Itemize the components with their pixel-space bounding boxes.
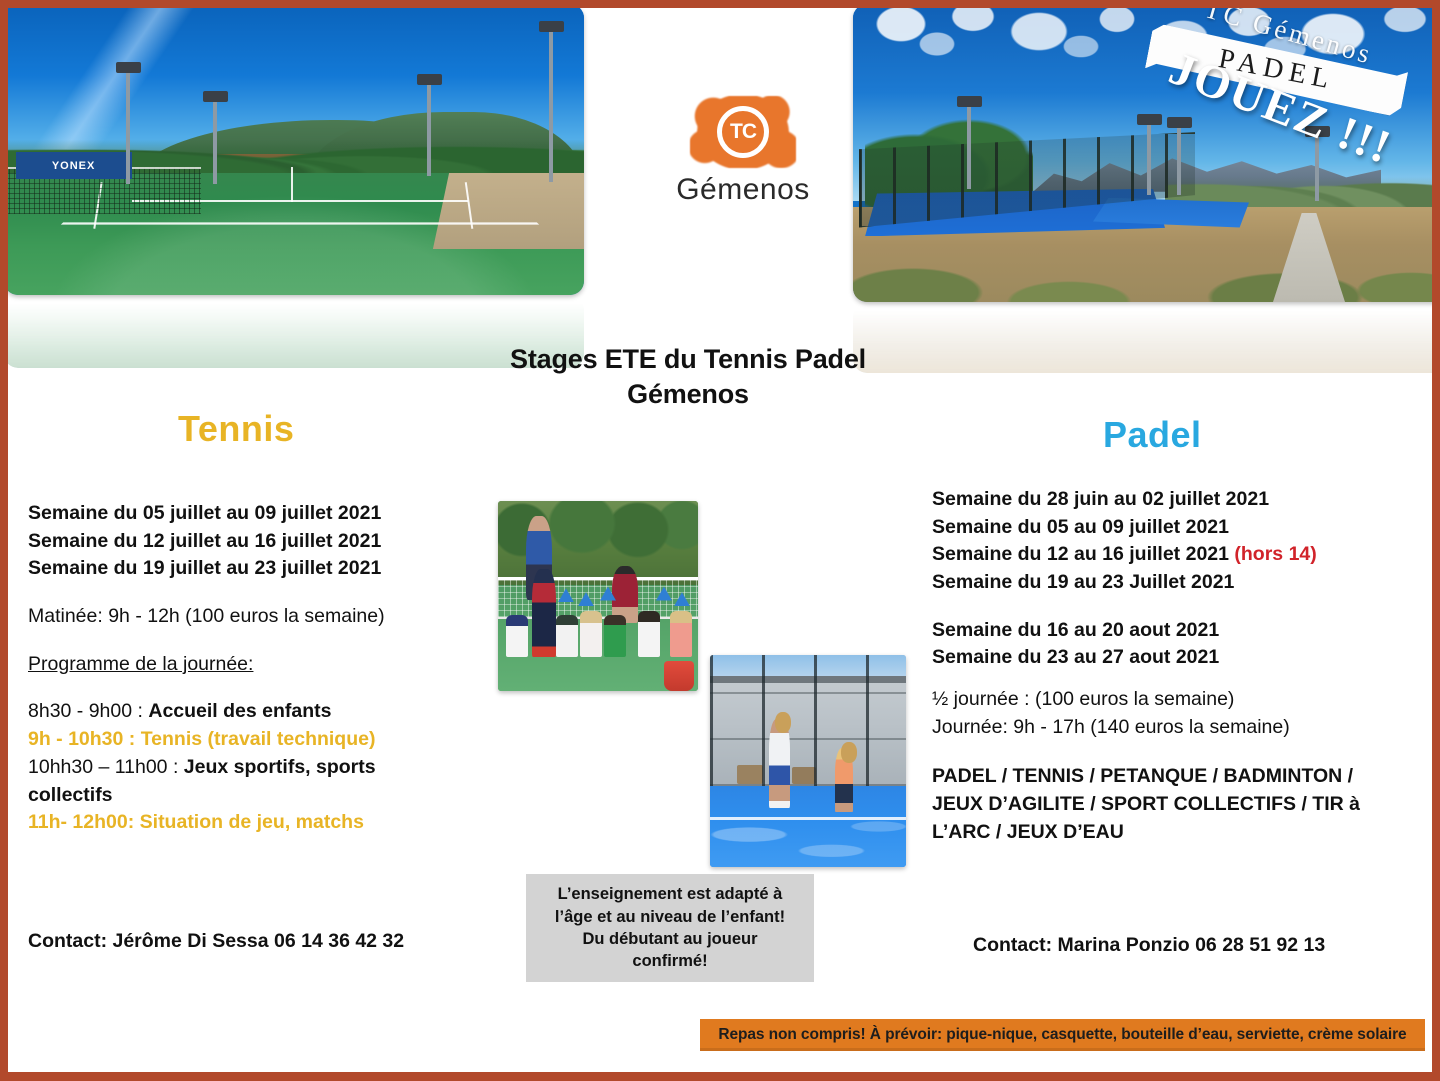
poster-root: YONEX TC Géme <box>0 0 1440 1081</box>
ball-bucket <box>664 661 694 691</box>
kids-lesson-photo <box>498 501 698 691</box>
tennis-schedule-row-3: 10hh30 – 11h00 : Jeux sportifs, sports c… <box>28 754 458 809</box>
child-7 <box>670 611 692 657</box>
padel-contact: Contact: Marina Ponzio 06 28 51 92 13 <box>973 934 1325 957</box>
tennis-schedule-row-2: 9h - 10h30 : Tennis (travail technique) <box>28 726 458 754</box>
logo-ring: TC <box>717 106 769 158</box>
teaching-note-box: L’enseignement est adapté à l’âge et au … <box>526 874 814 982</box>
note-line-1: L’enseignement est adapté à <box>555 883 785 905</box>
padel-ribbon-banner: TC Gémenos PADEL JOUEZ !!! <box>1141 10 1429 165</box>
schedule-activity: Accueil des enfants <box>148 700 331 722</box>
floodlight-pole-a <box>967 105 971 188</box>
logo-club-name: Gémenos <box>676 173 810 207</box>
spacer <box>932 742 1402 762</box>
child-6 <box>638 611 660 657</box>
tennis-court-scene: YONEX <box>4 4 584 295</box>
floodlight-pole-1 <box>126 71 130 184</box>
footer-notice-banner: Repas non compris! À prévoir: pique-niqu… <box>700 1019 1425 1051</box>
floodlight-pole-3 <box>427 83 431 176</box>
child-1 <box>506 615 528 657</box>
tennis-week-1: Semaine du 05 juillet au 09 juillet 2021 <box>28 500 458 528</box>
child-3 <box>556 615 578 657</box>
padel-players-photo <box>710 655 906 867</box>
side-path <box>433 173 584 249</box>
yonex-banner: YONEX <box>16 152 132 178</box>
tennis-week-2: Semaine du 12 juillet au 16 juillet 2021 <box>28 528 458 556</box>
child-5 <box>604 615 626 657</box>
schedule-time: 10hh30 – 11h00 : <box>28 756 178 778</box>
padel-week-2: Semaine du 05 au 09 juillet 2021 <box>932 514 1402 542</box>
spacer <box>28 678 458 698</box>
floodlight-pole-4 <box>549 30 553 181</box>
floodlight-pole-2 <box>213 100 217 184</box>
child-4 <box>580 611 602 657</box>
racket-1 <box>775 712 791 733</box>
padel-week-1: Semaine du 28 juin au 02 juillet 2021 <box>932 486 1402 514</box>
tennis-price: Matinée: 9h - 12h (100 euros la semaine) <box>28 603 458 631</box>
tennis-court-photo: YONEX <box>4 4 584 295</box>
note-line-3: Du débutant au joueur <box>555 928 785 950</box>
padel-week-3-note: (hors 14) <box>1234 543 1316 565</box>
cage-mesh <box>710 655 906 786</box>
court-floor-texture <box>710 786 906 867</box>
spacer <box>28 583 458 603</box>
baseline <box>61 223 539 225</box>
page-title: Stages ETE du Tennis Padel Gémenos <box>388 342 988 411</box>
spacer <box>932 597 1402 617</box>
note-line-4: confirmé! <box>555 950 785 972</box>
court-line <box>710 817 906 820</box>
tennis-programme-label: Programme de la journée: <box>28 651 458 679</box>
spacer <box>932 672 1402 686</box>
tennis-details: Semaine du 05 juillet au 09 juillet 2021… <box>28 500 458 837</box>
logo-splatter-icon: TC <box>690 96 796 168</box>
tennis-schedule-row-1: 8h30 - 9h00 : Accueil des enfants <box>28 698 458 726</box>
note-line-2: l’âge et au niveau de l’enfant! <box>555 906 785 928</box>
child-2 <box>532 569 556 656</box>
title-line-2: Gémenos <box>388 377 988 412</box>
padel-details: Semaine du 28 juin au 02 juillet 2021 Se… <box>932 486 1402 846</box>
tc-gemenos-logo: TC Gémenos <box>648 96 838 216</box>
padel-section-heading: Padel <box>1103 414 1202 456</box>
padel-week-4: Semaine du 19 au 23 Juillet 2021 <box>932 569 1402 597</box>
padel-players-scene <box>710 655 906 867</box>
padel-court-scene: TC Gémenos PADEL JOUEZ !!! <box>853 4 1440 302</box>
center-line <box>291 167 293 202</box>
padel-price-half: ½ journée : (100 euros la semaine) <box>932 686 1402 714</box>
tennis-contact: Contact: Jérôme Di Sessa 06 14 36 42 32 <box>28 930 404 953</box>
tennis-schedule-row-4: 11h- 12h00: Situation de jeu, matchs <box>28 809 458 837</box>
padel-week-6: Semaine du 23 au 27 aout 2021 <box>932 644 1402 672</box>
title-line-1: Stages ETE du Tennis Padel <box>388 342 988 377</box>
tennis-week-3: Semaine du 19 juillet au 23 juillet 2021 <box>28 555 458 583</box>
spacer <box>28 631 458 651</box>
tennis-section-heading: Tennis <box>178 408 294 450</box>
padel-price-full: Journée: 9h - 17h (140 euros la semaine) <box>932 714 1402 742</box>
padel-court-photo: TC Gémenos PADEL JOUEZ !!! <box>853 4 1440 302</box>
schedule-time: 8h30 - 9h00 : <box>28 700 143 722</box>
kids-lesson-scene <box>498 501 698 691</box>
padel-week-3-text: Semaine du 12 au 16 juillet 2021 <box>932 543 1234 565</box>
logo-initials: TC <box>730 120 756 144</box>
padel-activities: PADEL / TENNIS / PETANQUE / BADMINTON / … <box>932 762 1402 847</box>
racket-2 <box>841 742 857 763</box>
padel-week-5: Semaine du 16 au 20 aout 2021 <box>932 617 1402 645</box>
padel-week-3: Semaine du 12 au 16 juillet 2021 (hors 1… <box>932 541 1402 569</box>
